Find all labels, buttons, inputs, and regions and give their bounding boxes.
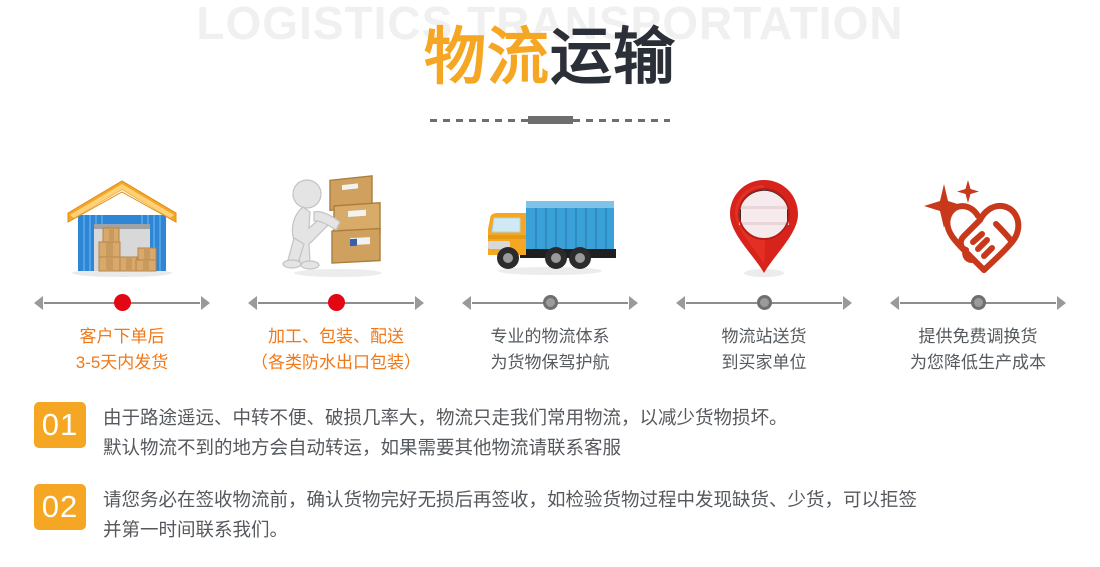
note-text: 由于路途遥远、中转不便、破损几率大，物流只走我们常用物流，以减少货物损坏。 默认… — [103, 402, 788, 463]
feature-item-exchange: 提供免费调换货 为您降低生产成本 — [878, 170, 1078, 376]
timeline-3 — [462, 292, 638, 314]
note-item: 01 由于路途遥远、中转不便、破损几率大，物流只走我们常用物流，以减少货物损坏。… — [34, 402, 1066, 463]
feature-item-warehouse: 客户下单后 3-5天内发货 — [22, 170, 222, 376]
timeline-1 — [34, 292, 210, 314]
timeline-dot — [114, 294, 131, 311]
timeline-arrow-left-icon — [462, 296, 471, 310]
timeline-dot — [757, 295, 772, 310]
timeline-arrow-left-icon — [34, 296, 43, 310]
timeline-arrow-right-icon — [629, 296, 638, 310]
caption-line: 加工、包装、配送 — [251, 324, 421, 350]
feature-caption: 专业的物流体系 为货物保驾护航 — [491, 324, 610, 376]
note-line: 并第一时间联系我们。 — [103, 515, 917, 545]
handshake-heart-icon — [918, 170, 1038, 280]
timeline-5 — [890, 292, 1066, 314]
divider-center-bar — [528, 116, 573, 124]
page-title-orange: 物流 — [424, 23, 550, 92]
timeline-dot — [971, 295, 986, 310]
worker-pushing-boxes-icon — [276, 170, 396, 280]
timeline-dot — [328, 294, 345, 311]
note-text: 请您务必在签收物流前，确认货物完好无损后再签收，如检验货物过程中发现缺货、少货，… — [103, 484, 917, 545]
caption-line: 为您降低生产成本 — [910, 350, 1046, 376]
timeline-2 — [248, 292, 424, 314]
page-title: 物流运输 — [0, 22, 1100, 93]
note-number-badge: 01 — [34, 402, 86, 448]
timeline-arrow-left-icon — [676, 296, 685, 310]
notes-section: 01 由于路途遥远、中转不便、破损几率大，物流只走我们常用物流，以减少货物损坏。… — [0, 402, 1100, 566]
timeline-arrow-right-icon — [843, 296, 852, 310]
feature-caption: 加工、包装、配送 （各类防水出口包装） — [251, 324, 421, 376]
feature-item-packaging: 加工、包装、配送 （各类防水出口包装） — [236, 170, 436, 376]
logistics-banner: LOGISTICS TRANSPORTATION 物流运输 — [0, 0, 1100, 567]
caption-line: 专业的物流体系 — [491, 324, 610, 350]
feature-row: 客户下单后 3-5天内发货 — [0, 170, 1100, 376]
divider-dash-left — [430, 119, 528, 122]
feature-caption: 提供免费调换货 为您降低生产成本 — [910, 324, 1046, 376]
timeline-dot — [543, 295, 558, 310]
caption-line: 到买家单位 — [722, 350, 807, 376]
caption-line: 物流站送货 — [722, 324, 807, 350]
header: LOGISTICS TRANSPORTATION 物流运输 — [0, 0, 1100, 148]
timeline-arrow-left-icon — [248, 296, 257, 310]
note-line: 由于路途遥远、中转不便、破损几率大，物流只走我们常用物流，以减少货物损坏。 — [103, 403, 788, 433]
caption-line: 为货物保驾护航 — [491, 350, 610, 376]
feature-caption: 客户下单后 3-5天内发货 — [76, 324, 169, 376]
note-item: 02 请您务必在签收物流前，确认货物完好无损后再签收，如检验货物过程中发现缺货、… — [34, 484, 1066, 545]
note-line: 默认物流不到的地方会自动转运，如果需要其他物流请联系客服 — [103, 433, 788, 463]
caption-line: （各类防水出口包装） — [251, 350, 421, 376]
warehouse-icon — [56, 170, 188, 280]
divider-dash-right — [573, 119, 671, 122]
map-pin-icon — [719, 170, 809, 280]
feature-caption: 物流站送货 到买家单位 — [722, 324, 807, 376]
caption-line: 客户下单后 — [76, 324, 169, 350]
timeline-arrow-left-icon — [890, 296, 899, 310]
feature-item-transport: 专业的物流体系 为货物保驾护航 — [450, 170, 650, 376]
container-truck-icon — [480, 170, 620, 280]
feature-item-delivery: 物流站送货 到买家单位 — [664, 170, 864, 376]
timeline-4 — [676, 292, 852, 314]
timeline-arrow-right-icon — [201, 296, 210, 310]
page-title-dark: 运输 — [550, 23, 676, 92]
note-line: 请您务必在签收物流前，确认货物完好无损后再签收，如检验货物过程中发现缺货、少货，… — [103, 485, 917, 515]
caption-line: 3-5天内发货 — [76, 350, 169, 376]
title-divider — [430, 116, 670, 124]
caption-line: 提供免费调换货 — [910, 324, 1046, 350]
timeline-arrow-right-icon — [415, 296, 424, 310]
note-number-badge: 02 — [34, 484, 86, 530]
timeline-arrow-right-icon — [1057, 296, 1066, 310]
